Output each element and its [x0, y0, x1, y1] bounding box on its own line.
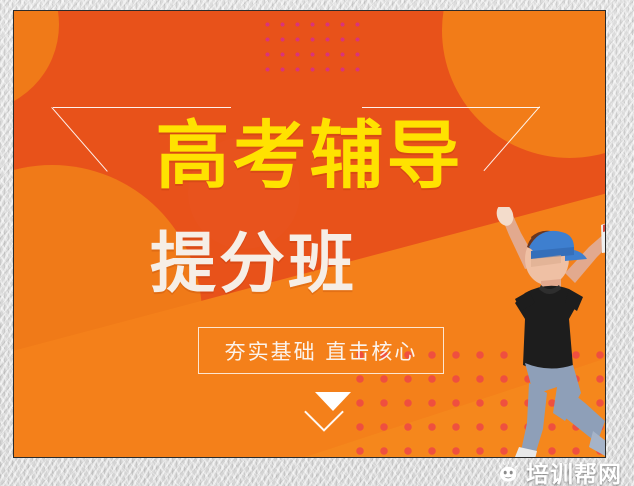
poster-canvas: 高考辅导 提分班 夯实基础 直击核心	[0, 0, 634, 486]
corner-bracket-right-horizontal	[362, 107, 540, 108]
watermark: 培训帮网	[496, 455, 622, 486]
subtitle-box: 夯实基础 直击核心	[198, 327, 444, 374]
poster-panel: 高考辅导 提分班 夯实基础 直击核心	[13, 10, 606, 458]
magenta-dot-grid	[257, 13, 364, 75]
page-title-primary: 高考辅导	[14, 115, 605, 197]
decor-circle-top-left	[13, 10, 59, 112]
corner-bracket-left-horizontal	[53, 107, 231, 108]
down-arrow-group	[303, 392, 363, 434]
page-title-secondary: 提分班	[13, 227, 549, 301]
smiley-sun-icon	[496, 460, 520, 484]
subtitle-text: 夯实基础 直击核心	[225, 336, 418, 366]
watermark-text: 培训帮网	[526, 455, 622, 486]
